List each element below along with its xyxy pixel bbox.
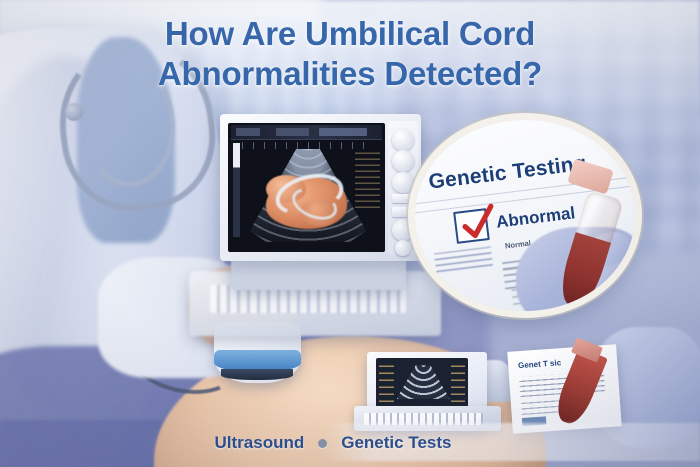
ultrasound-scale-ticks bbox=[242, 142, 374, 148]
inset-paper-title: Genet T sic bbox=[517, 358, 561, 370]
inset-scan-fan bbox=[397, 365, 450, 401]
ultrasound-screen bbox=[228, 123, 385, 252]
monitor-button[interactable] bbox=[392, 207, 415, 216]
ultrasound-gain-bar bbox=[233, 143, 241, 236]
monitor-stand bbox=[231, 258, 406, 291]
monitor-knob[interactable] bbox=[392, 219, 414, 241]
monitor-knob[interactable] bbox=[392, 172, 414, 194]
inset-machine-screen bbox=[376, 358, 467, 407]
page-title: How Are Umbilical Cord Abnormalities Det… bbox=[0, 14, 700, 95]
check-icon bbox=[455, 202, 501, 247]
legend-item-genetic-tests: Genetic Tests bbox=[341, 433, 451, 453]
monitor-knob[interactable] bbox=[392, 150, 414, 172]
inset-screen-ui-left bbox=[379, 363, 394, 401]
stethoscope-chestpiece-icon bbox=[65, 103, 83, 121]
legend-separator-dot bbox=[318, 439, 327, 448]
monitor-button[interactable] bbox=[392, 194, 415, 203]
legend: Ultrasound Genetic Tests bbox=[0, 433, 700, 453]
ultrasound-screen-toolbar bbox=[231, 125, 382, 139]
legend-item-ultrasound: Ultrasound bbox=[215, 433, 305, 453]
ultrasound-ui-chip bbox=[276, 128, 309, 136]
magnifier-lens: Genetic Testing Abnormal Normal bbox=[415, 120, 635, 311]
ultrasound-side-readout bbox=[355, 151, 380, 208]
page-title-line-1: How Are Umbilical Cord bbox=[165, 15, 535, 52]
ultrasound-ui-chip bbox=[319, 128, 367, 136]
inset-screen-ui-right bbox=[451, 363, 466, 401]
ultrasound-probe-tip bbox=[221, 369, 293, 380]
ultrasound-ui-chip bbox=[236, 128, 260, 136]
monitor-knob[interactable] bbox=[392, 129, 414, 151]
monitor-control-panel bbox=[388, 121, 418, 253]
page-title-line-2: Abnormalities Detected? bbox=[0, 54, 700, 94]
ultrasound-monitor bbox=[220, 114, 422, 261]
infographic-banner: Genetic Testing Abnormal Normal Genet T … bbox=[0, 0, 700, 467]
monitor-knob[interactable] bbox=[395, 240, 411, 256]
